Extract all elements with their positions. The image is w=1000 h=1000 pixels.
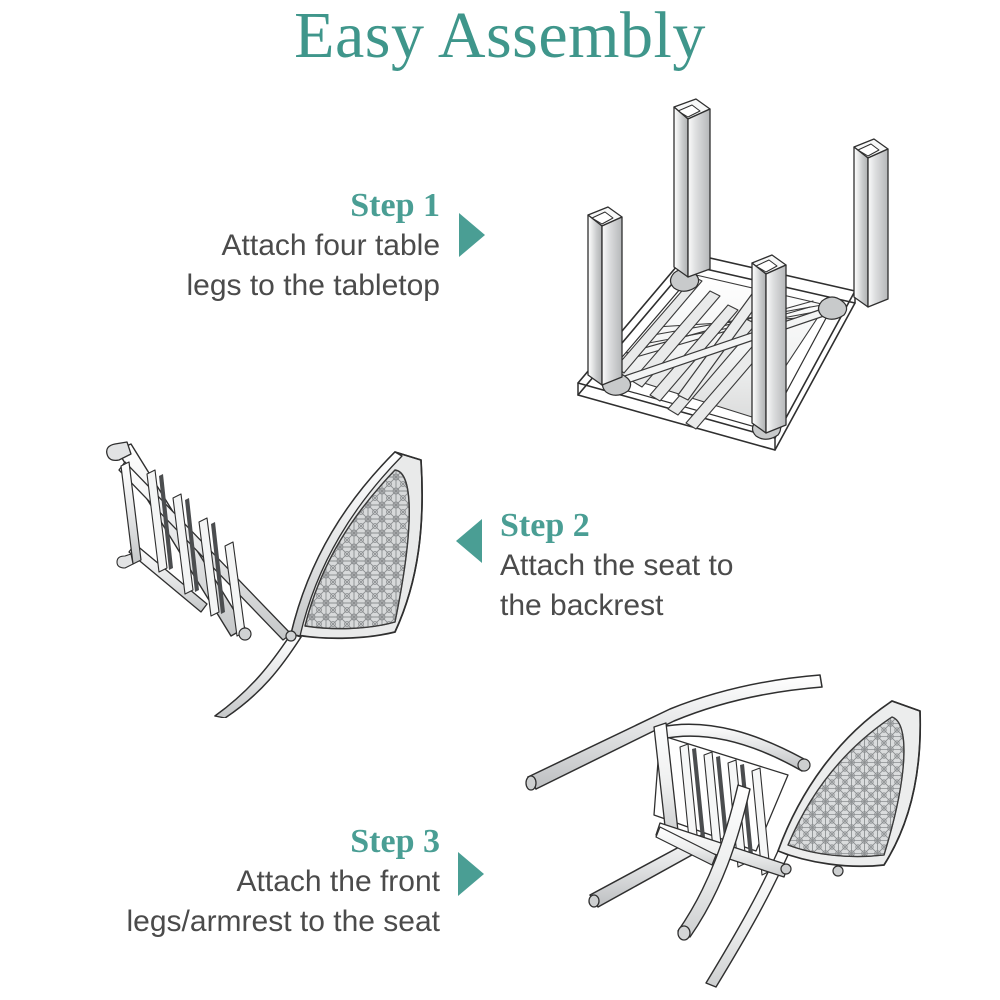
step-3-arrow-right-icon <box>458 852 484 896</box>
step-3-text-block: Step 3 Attach the front legs/armrest to … <box>50 822 440 942</box>
step-2-arrow-left-icon <box>456 519 482 563</box>
step-1-illustration-table-legs <box>570 95 940 470</box>
step-1-text-block: Step 1 Attach four table legs to the tab… <box>60 186 440 306</box>
page-title: Easy Assembly <box>0 0 1000 76</box>
table-assembly-drawing <box>570 95 940 470</box>
step-1-heading: Step 1 <box>60 186 440 226</box>
seat-backrest-drawing <box>95 428 455 718</box>
step-2-text-block: Step 2 Attach the seat to the backrest <box>500 506 900 626</box>
step-3-illustration-chair-front-legs <box>520 665 990 995</box>
assembly-instructions-page: Easy Assembly Step 1 Attach four table l… <box>0 0 1000 1000</box>
step-1-body: Attach four table legs to the tabletop <box>60 226 440 306</box>
chair-front-legs-drawing <box>520 665 990 995</box>
step-3-heading: Step 3 <box>50 822 440 862</box>
step-2-illustration-seat-backrest <box>95 428 455 718</box>
step-3-body: Attach the front legs/armrest to the sea… <box>50 862 440 942</box>
step-2-heading: Step 2 <box>500 506 900 546</box>
step-2-body: Attach the seat to the backrest <box>500 546 900 626</box>
step-1-arrow-right-icon <box>459 213 485 257</box>
